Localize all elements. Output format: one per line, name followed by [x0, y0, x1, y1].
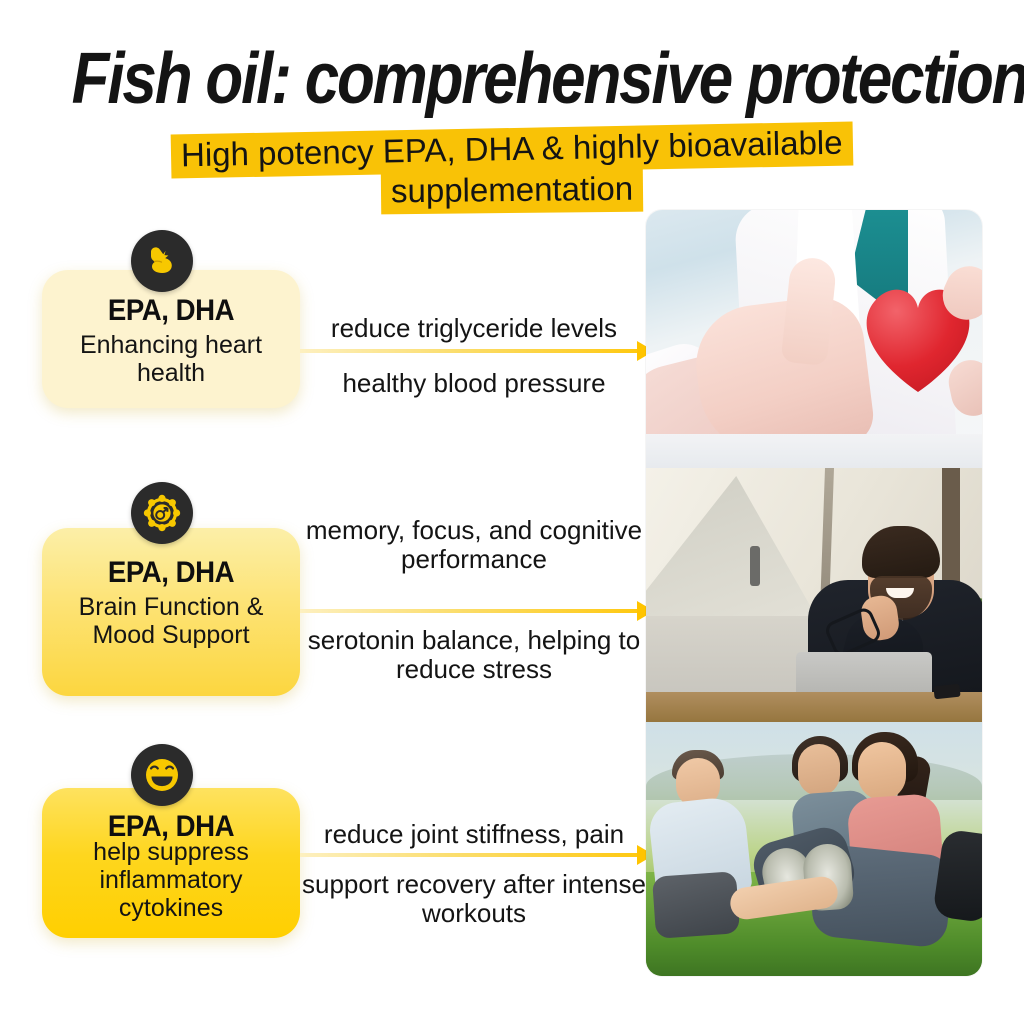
card-title: EPA, DHA: [52, 296, 289, 326]
card-inflammation: EPA, DHA help suppress inflammatory cyto…: [42, 788, 300, 938]
page-subtitle: High potency EPA, DHA & highly bioavaila…: [0, 128, 1024, 213]
photo-group-situps: [646, 722, 982, 976]
card-title: EPA, DHA: [52, 558, 289, 588]
benefit-top-label: reduce joint stiffness, pain: [296, 820, 652, 849]
flexed-bicep-icon: [131, 230, 193, 292]
photo-doctor-heart: [646, 210, 982, 468]
benefit-bottom-label: support recovery after intense workouts: [296, 870, 652, 929]
arrow-icon: [300, 609, 652, 613]
smiling-face-icon: [131, 744, 193, 806]
subtitle-line-2: supplementation: [381, 168, 644, 215]
infographic-root: Fish oil: comprehensive protection High …: [0, 0, 1024, 1024]
card-subtitle: help suppress inflammatory cytokines: [42, 838, 300, 922]
photo-man-laptop: [646, 468, 982, 722]
arrow-icon: [300, 853, 652, 857]
molecule-male-symbol-icon: [131, 482, 193, 544]
card-title: EPA, DHA: [52, 812, 289, 842]
card-subtitle: Enhancing heart health: [42, 331, 300, 387]
page-title: Fish oil: comprehensive protection: [72, 38, 953, 120]
benefit-top-label: reduce triglyceride levels: [296, 314, 652, 343]
card-subtitle: Brain Function & Mood Support: [42, 593, 300, 649]
card-heart: EPA, DHA Enhancing heart health: [42, 270, 300, 408]
arrow-icon: [300, 349, 652, 353]
benefit-top-label: memory, focus, and cognitive performance: [296, 516, 652, 575]
benefit-bottom-label: healthy blood pressure: [296, 369, 652, 398]
benefit-bottom-label: serotonin balance, helping to reduce str…: [296, 626, 652, 685]
card-brain: EPA, DHA Brain Function & Mood Support: [42, 528, 300, 696]
photo-column: [646, 210, 982, 976]
